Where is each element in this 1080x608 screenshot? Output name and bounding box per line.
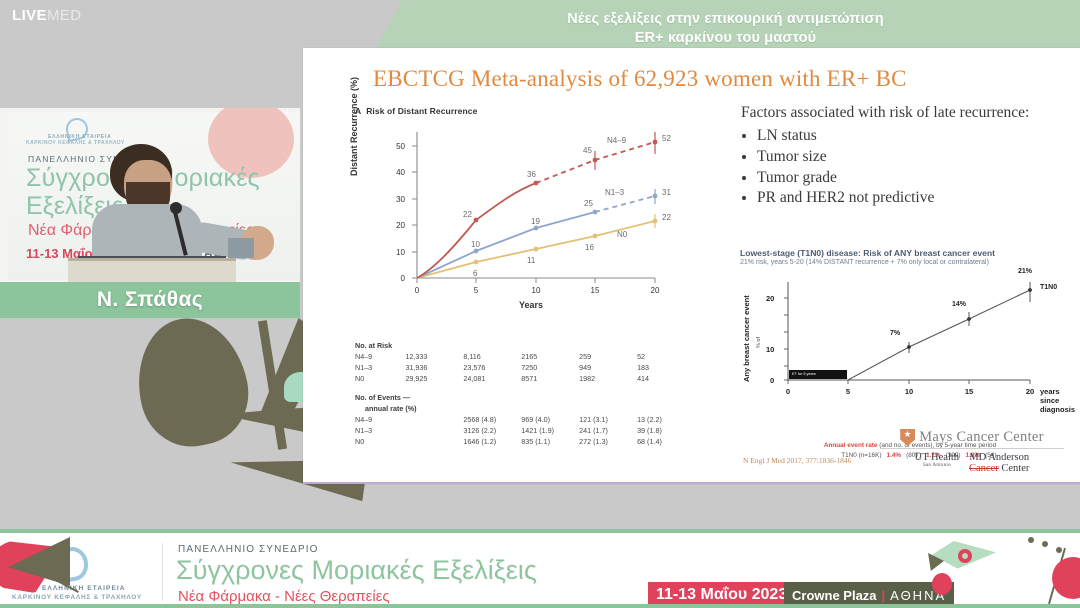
et-bar-annotation: ET for 5 years — [792, 372, 816, 376]
chart-b-xtick-10: 10 — [902, 387, 916, 396]
chart-a-label-n49-20: 52 — [662, 134, 671, 143]
chart-a-xtick-10: 10 — [528, 286, 544, 295]
institution-logos: ★ Mays Cancer Center UT Health San Anton… — [874, 429, 1070, 474]
chart-b-xtick-20: 20 — [1023, 387, 1037, 396]
chart-a-label-n0-20: 22 — [662, 213, 671, 222]
chart-b-svg — [740, 270, 1070, 420]
chart-b-ytick-0: 0 — [770, 376, 774, 385]
speaker-name-band: Ν. Σπάθας — [0, 282, 300, 318]
t1n0-heading-block: Lowest-stage (T1N0) disease: Risk of ANY… — [740, 248, 1078, 266]
logo-live-text: LIVE — [12, 7, 47, 24]
chart-a-label-n0-10: 11 — [527, 256, 535, 265]
mays-cancer-center-logo: ★ Mays Cancer Center — [874, 429, 1070, 446]
table-row: N4–9 12,333 8,116 2165 259 52 — [355, 351, 695, 362]
chart-a-ytick-0: 0 — [387, 274, 405, 283]
chart-b-ytick-20: 20 — [766, 294, 774, 303]
video-society-line2: ΚΑΡΚΙΝΟΥ ΚΕΦΑΛΗΣ & ΤΡΑΧΗΛΟΥ — [26, 140, 125, 146]
cell: 2165 — [521, 351, 579, 362]
chart-a-label-n13-15: 25 — [584, 199, 593, 208]
speaker-name: Ν. Σπάθας — [97, 288, 203, 312]
t1n0-chart: Any breast cancer event % of 0 10 20 0 5… — [740, 270, 1070, 420]
cell: 949 — [579, 362, 637, 373]
banner-society-line1: ΕΛΛΗΝΙΚΗ ΕΤΑΙΡΕΙΑ — [42, 585, 126, 592]
cell: 31,936 — [405, 362, 463, 373]
table-row: N4–9 2568 (4.8) 969 (4.0) 121 (3.1) 13 (… — [355, 414, 695, 425]
session-title-line1: Νέες εξελίξεις στην επικουρική αντιμετώπ… — [567, 11, 883, 27]
cell: 68 (1.4) — [637, 436, 695, 447]
chart-a-xtick-0: 0 — [409, 286, 425, 295]
banner-congress-label: ΠΑΝΕΛΛΗΝΙΟ ΣΥΝΕΔΡΙΟ — [178, 544, 318, 555]
factors-lead: Factors associated with risk of late rec… — [741, 103, 1071, 123]
list-item: Tumor grade — [757, 168, 1071, 189]
chart-a-series-label-n49: N4–9 — [607, 136, 626, 145]
slide-title: EBCTCG Meta-analysis of 62,923 women wit… — [373, 66, 907, 92]
chart-a-label-n49-5: 22 — [463, 210, 472, 219]
chart-a-xtick-20: 20 — [647, 286, 663, 295]
cell: 12,333 — [405, 351, 463, 362]
session-title-line2: ER+ καρκίνου του μαστού — [635, 30, 817, 46]
chart-a-xtick-15: 15 — [587, 286, 603, 295]
banner-separator: | — [882, 588, 886, 603]
cell: 183 — [637, 362, 695, 373]
chart-b-label-15: 14% — [952, 301, 966, 308]
chart-b-xtick-15: 15 — [962, 387, 976, 396]
cell: 8571 — [521, 373, 579, 384]
chart-b-xlabel: years since diagnosis — [1040, 387, 1075, 414]
chart-a-label-n13-5: 10 — [471, 240, 480, 249]
list-item: PR and HER2 not predictive — [757, 188, 1071, 209]
at-risk-heading: No. at Risk — [355, 340, 695, 351]
cell: 39 (1.8) — [637, 425, 695, 436]
panel-a-caption: A Risk of Distant Recurrence — [355, 106, 477, 116]
t1n0-subtitle: 21% risk, years 5-20 (14% DISTANT recurr… — [740, 259, 1078, 266]
chart-a-ytick-10: 10 — [387, 248, 405, 257]
row-label: N1–3 — [355, 362, 405, 373]
chart-a-label-n13-10: 19 — [531, 217, 540, 226]
chart-a-label-n0-15: 16 — [585, 243, 594, 252]
cell: 259 — [579, 351, 637, 362]
livemed-logo: LIVEMED — [0, 0, 88, 30]
cell: 24,081 — [463, 373, 521, 384]
md-anderson-label: MD Anderson — [969, 452, 1029, 463]
chart-b-label-20: 21% — [1018, 268, 1032, 275]
ut-health-sub: San Antonio — [915, 463, 959, 468]
chart-a-ytick-40: 40 — [387, 168, 405, 177]
shield-icon: ★ — [900, 429, 915, 446]
row-label: N4–9 — [355, 414, 405, 425]
congress-bottom-banner: ΕΛΛΗΝΙΚΗ ΕΤΑΙΡΕΙΑ ΚΑΡΚΙΝΟΥ ΚΕΦΑΛΗΣ & ΤΡΑ… — [0, 529, 1080, 608]
logo-med-text: MED — [47, 7, 82, 24]
row-label: N0 — [355, 373, 405, 384]
distant-recurrence-chart: Distant Recurrence (%) 0 10 20 30 40 50 … — [355, 118, 685, 318]
chart-b-ytick-10: 10 — [766, 345, 774, 354]
cell: 23,576 — [463, 362, 521, 373]
chart-b-xtick-5: 5 — [841, 387, 855, 396]
md-anderson-logo: MD Anderson Cancer Center — [969, 452, 1029, 474]
chart-b-ylabel: Any breast cancer event — [742, 295, 751, 382]
laptop — [228, 238, 254, 258]
chart-a-label-n49-15: 45 — [583, 146, 592, 155]
list-item: Tumor size — [757, 147, 1071, 168]
table-row: N1–3 3126 (2.2) 1421 (1.9) 241 (1.7) 39 … — [355, 425, 695, 436]
cell: 835 (1.1) — [521, 436, 579, 447]
chart-a-ytick-30: 30 — [387, 195, 405, 204]
chart-a-series-label-n13: N1–3 — [605, 188, 624, 197]
chart-b-ylabel2: % of — [756, 337, 762, 348]
events-heading-line1: No. of Events — — [355, 392, 695, 403]
chart-b-series-label: T1N0 — [1040, 284, 1057, 291]
table-row: N0 29,925 24,081 8571 1982 414 — [355, 373, 695, 384]
panel-a-title: Risk of Distant Recurrence — [366, 106, 477, 116]
page-background: LIVEMED Νέες εξελίξεις στην επικουρική α… — [0, 0, 1080, 608]
banner-society-line2: ΚΑΡΚΙΝΟΥ ΚΕΦΑΛΗΣ & ΤΡΑΧΗΛΟΥ — [12, 594, 142, 601]
cell: 1646 (1.2) — [463, 436, 521, 447]
chart-b-xtick-0: 0 — [781, 387, 795, 396]
table-row: N1–3 31,936 23,576 7250 949 183 — [355, 362, 695, 373]
cell: 414 — [637, 373, 695, 384]
chart-a-ylabel: Distant Recurrence (%) — [349, 77, 359, 176]
factors-list: LN status Tumor size Tumor grade PR and … — [757, 126, 1071, 208]
cell: 272 (1.3) — [579, 436, 637, 447]
row-label: N4–9 — [355, 351, 405, 362]
chart-a-ytick-50: 50 — [387, 142, 405, 151]
cell: 8,116 — [463, 351, 521, 362]
md-anderson-strike: Cancer — [969, 463, 999, 474]
annot-title: Annual event rate — [824, 442, 878, 449]
cell: 52 — [637, 351, 695, 362]
chart-a-xtick-5: 5 — [468, 286, 484, 295]
banner-divider — [162, 543, 163, 601]
ut-health-logo: UT Health San Antonio — [915, 452, 959, 474]
chart-a-series-label-n0: N0 — [617, 230, 627, 239]
chart-b-label-10: 7% — [890, 330, 900, 337]
presentation-slide[interactable]: EBCTCG Meta-analysis of 62,923 women wit… — [303, 48, 1080, 484]
microphone-head — [170, 202, 182, 214]
cell: 3126 (2.2) — [463, 425, 521, 436]
cell: 241 (1.7) — [579, 425, 637, 436]
cell: 13 (2.2) — [637, 414, 695, 425]
md-anderson-rest: Center — [1001, 463, 1029, 474]
chart-a-label-n0-5: 6 — [473, 269, 477, 278]
list-item: LN status — [757, 126, 1071, 147]
logo-divider — [880, 448, 1064, 449]
cell: 121 (3.1) — [579, 414, 637, 425]
table-row: N0 1646 (1.2) 835 (1.1) 272 (1.3) 68 (1.… — [355, 436, 695, 447]
cell: 2568 (4.8) — [463, 414, 521, 425]
banner-venue-badge: Crowne Plaza | ΑΘΗΝΑ — [784, 582, 954, 608]
mays-label: Mays Cancer Center — [919, 429, 1044, 446]
cell: 7250 — [521, 362, 579, 373]
banner-title: Σύγχρονες Μοριακές Εξελίξεις — [176, 555, 537, 586]
chart-a-xlabel: Years — [519, 300, 543, 310]
t1n0-title: Lowest-stage (T1N0) disease: Risk of ANY… — [740, 248, 1078, 258]
row-label: N1–3 — [355, 425, 405, 436]
chart-a-label-n13-20: 31 — [662, 188, 671, 197]
chart-a-label-n49-10: 36 — [527, 170, 536, 179]
cell: 1421 (1.9) — [521, 425, 579, 436]
banner-subtitle: Νέα Φάρμακα - Νέες Θεραπείες — [178, 588, 390, 605]
chart-a-ytick-20: 20 — [387, 221, 405, 230]
events-heading-line2: annual rate (%) — [355, 403, 695, 414]
at-risk-table: No. at Risk N4–9 12,333 8,116 2165 259 5… — [355, 340, 695, 447]
cell: 1982 — [579, 373, 637, 384]
banner-date-badge: 11-13 Μαΐου 2023 — [648, 582, 795, 608]
cell: 969 (4.0) — [521, 414, 579, 425]
banner-venue-name: Crowne Plaza — [792, 588, 877, 603]
factors-block: Factors associated with risk of late rec… — [741, 103, 1071, 209]
row-label: N0 — [355, 436, 405, 447]
cell: 29,925 — [405, 373, 463, 384]
citation: N Engl J Med 2017, 377:1836-1846 — [743, 456, 851, 465]
